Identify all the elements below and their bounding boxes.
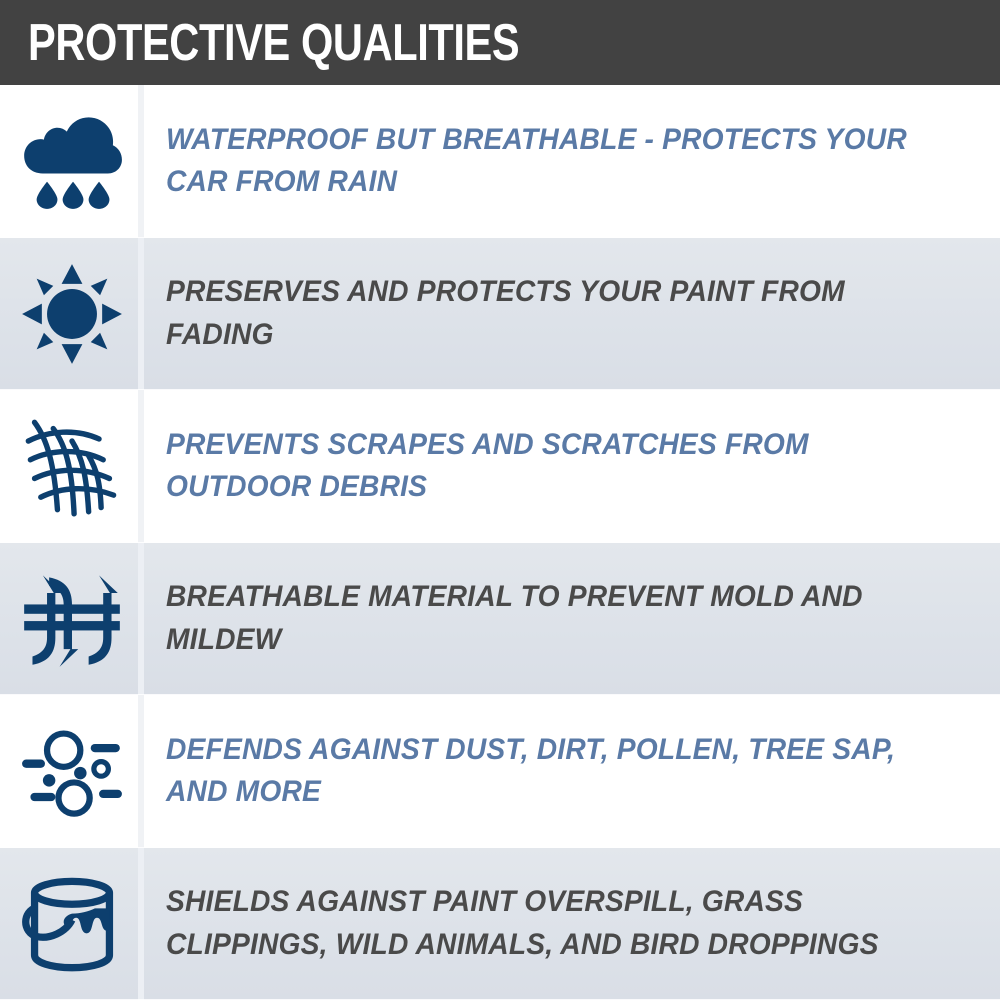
feature-row: WATERPROOF BUT BREATHABLE - PROTECTS YOU… — [0, 85, 1000, 238]
icon-cell — [0, 390, 144, 543]
feature-row: SHIELDS AGAINST PAINT OVERSPILL, GRASS C… — [0, 848, 1000, 1000]
text-cell: DEFENDS AGAINST DUST, DIRT, POLLEN, TREE… — [144, 695, 1000, 848]
feature-row: DEFENDS AGAINST DUST, DIRT, POLLEN, TREE… — [0, 695, 1000, 848]
icon-cell — [0, 543, 144, 696]
feature-text: PREVENTS SCRAPES AND SCRATCHES FROM OUTD… — [166, 424, 926, 509]
icon-cell — [0, 85, 144, 238]
feature-row: BREATHABLE MATERIAL TO PREVENT MOLD AND … — [0, 543, 1000, 696]
feature-text: WATERPROOF BUT BREATHABLE - PROTECTS YOU… — [166, 119, 926, 204]
feature-text: DEFENDS AGAINST DUST, DIRT, POLLEN, TREE… — [166, 729, 926, 814]
dust-particles-icon — [20, 719, 124, 823]
protective-qualities-infographic: PROTECTIVE QUALITIES WATERPROOF BUT BREA… — [0, 0, 1000, 1000]
feature-row: PREVENTS SCRAPES AND SCRATCHES FROM OUTD… — [0, 390, 1000, 543]
text-cell: BREATHABLE MATERIAL TO PREVENT MOLD AND … — [144, 543, 1000, 696]
icon-cell — [0, 848, 144, 1000]
text-cell: WATERPROOF BUT BREATHABLE - PROTECTS YOU… — [144, 85, 1000, 238]
text-cell: PRESERVES AND PROTECTS YOUR PAINT FROM F… — [144, 238, 1000, 391]
rain-cloud-icon — [20, 109, 124, 213]
text-cell: PREVENTS SCRAPES AND SCRATCHES FROM OUTD… — [144, 390, 1000, 543]
header-bar: PROTECTIVE QUALITIES — [0, 0, 1000, 85]
paint-can-icon — [20, 872, 124, 976]
icon-cell — [0, 695, 144, 848]
page-title: PROTECTIVE QUALITIES — [28, 17, 519, 69]
woven-mesh-icon — [20, 414, 124, 518]
feature-text: SHIELDS AGAINST PAINT OVERSPILL, GRASS C… — [166, 881, 926, 966]
icon-cell — [0, 238, 144, 391]
feature-list: WATERPROOF BUT BREATHABLE - PROTECTS YOU… — [0, 85, 1000, 1000]
feature-row: PRESERVES AND PROTECTS YOUR PAINT FROM F… — [0, 238, 1000, 391]
feature-text: BREATHABLE MATERIAL TO PREVENT MOLD AND … — [166, 576, 926, 661]
airflow-arrows-icon — [20, 567, 124, 671]
text-cell: SHIELDS AGAINST PAINT OVERSPILL, GRASS C… — [144, 848, 1000, 1000]
sun-icon — [20, 262, 124, 366]
feature-text: PRESERVES AND PROTECTS YOUR PAINT FROM F… — [166, 271, 926, 356]
